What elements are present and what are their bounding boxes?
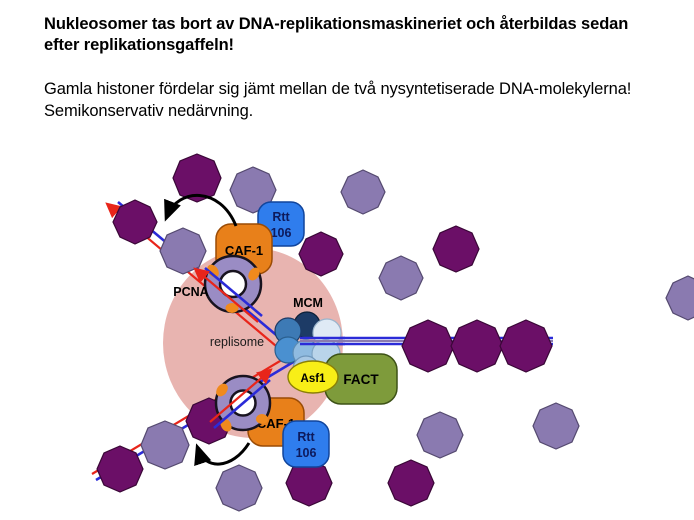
mcm-dna-overlay (300, 338, 345, 344)
rtt106-bottom[interactable] (283, 421, 329, 467)
nucleosome-old (97, 446, 143, 492)
bottom-strand-nucleosomes (97, 398, 232, 492)
slide-canvas: Nukleosomer tas bort av DNA-replikations… (0, 0, 694, 520)
mcm-label: MCM (293, 296, 323, 310)
rtt106-bottom-label-line1: Rtt (297, 430, 315, 444)
rtt106-top-label-line2: 106 (271, 226, 292, 240)
nucleosome-old (451, 320, 503, 372)
nucleosome-new (216, 465, 262, 511)
replication-nucleosome-diagram: FACT Asf1 MCM replisome Rtt 106 CAF-1 CA… (0, 140, 694, 520)
page-title: Nukleosomer tas bort av DNA-replikations… (44, 14, 644, 56)
fact-label: FACT (343, 372, 379, 387)
replisome-label: replisome (210, 335, 264, 349)
nucleosome-old (388, 460, 434, 506)
page-body-text: Gamla histoner fördelar sig jämt mellan … (44, 78, 664, 122)
pcna-label: PCNA (173, 285, 208, 299)
rtt106-top-label-line1: Rtt (272, 210, 290, 224)
nucleosome-new (141, 421, 189, 469)
asf1-label: Asf1 (301, 373, 327, 385)
nucleosome-old (500, 320, 552, 372)
nucleosome-new (341, 170, 385, 214)
nucleosome-new (533, 403, 579, 449)
nucleosome-old (299, 232, 343, 276)
nucleosome-new (666, 276, 694, 320)
nucleosome-new (417, 412, 463, 458)
nucleosome-old (113, 200, 157, 244)
deposition-arrow-bottom (198, 443, 249, 464)
nucleosome-old (433, 226, 479, 272)
nucleosome-new (160, 228, 206, 274)
nucleosome-old (402, 320, 454, 372)
nucleosome-new (379, 256, 423, 300)
rtt106-bottom-label-line2: 106 (296, 446, 317, 460)
right-strand-nucleosomes (402, 320, 552, 372)
